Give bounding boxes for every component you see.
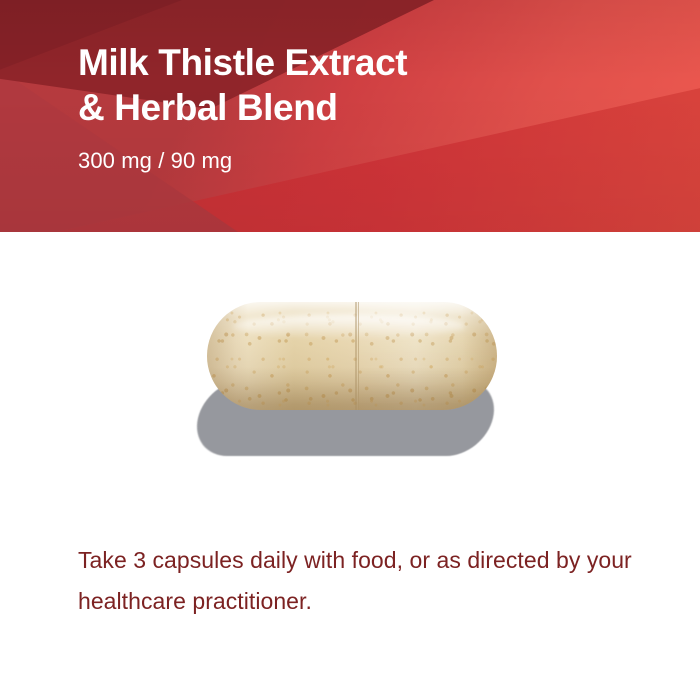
product-info-card: Milk Thistle Extract & Herbal Blend 300 … (0, 0, 700, 700)
banner-text-block: Milk Thistle Extract & Herbal Blend 300 … (78, 0, 638, 175)
product-dosage: 300 mg / 90 mg (78, 147, 638, 175)
product-image-area (0, 232, 700, 532)
capsule-body (207, 302, 497, 410)
header-banner: Milk Thistle Extract & Herbal Blend 300 … (0, 0, 700, 232)
capsule-cap-half (358, 302, 497, 410)
product-title: Milk Thistle Extract & Herbal Blend (78, 0, 638, 130)
capsule-seam (355, 302, 357, 410)
capsule-image (190, 302, 510, 472)
dosage-instructions: Take 3 capsules daily with food, or as d… (78, 540, 638, 622)
